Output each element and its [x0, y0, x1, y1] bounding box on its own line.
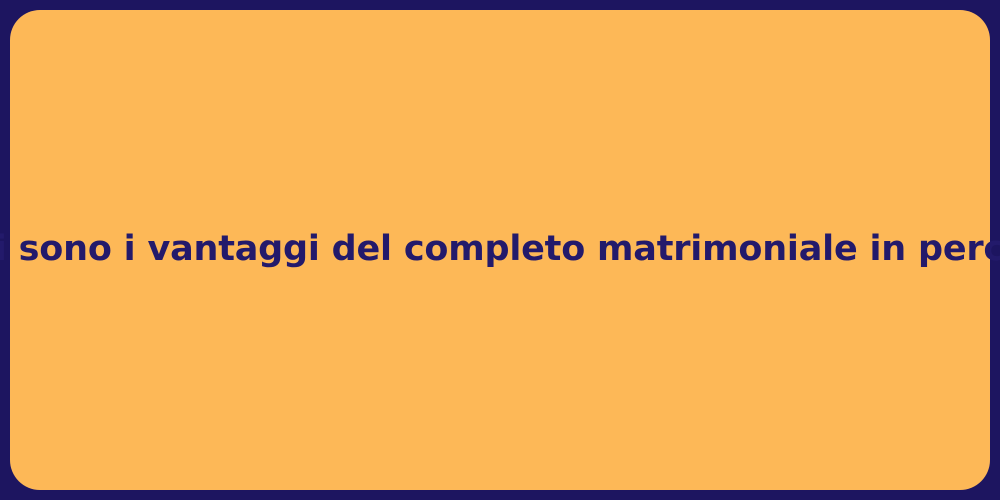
poster-panel: Quali sono i vantaggi del completo matri…	[10, 10, 990, 490]
poster-frame: Quali sono i vantaggi del completo matri…	[0, 0, 1000, 500]
page-title: Quali sono i vantaggi del completo matri…	[0, 228, 1000, 272]
